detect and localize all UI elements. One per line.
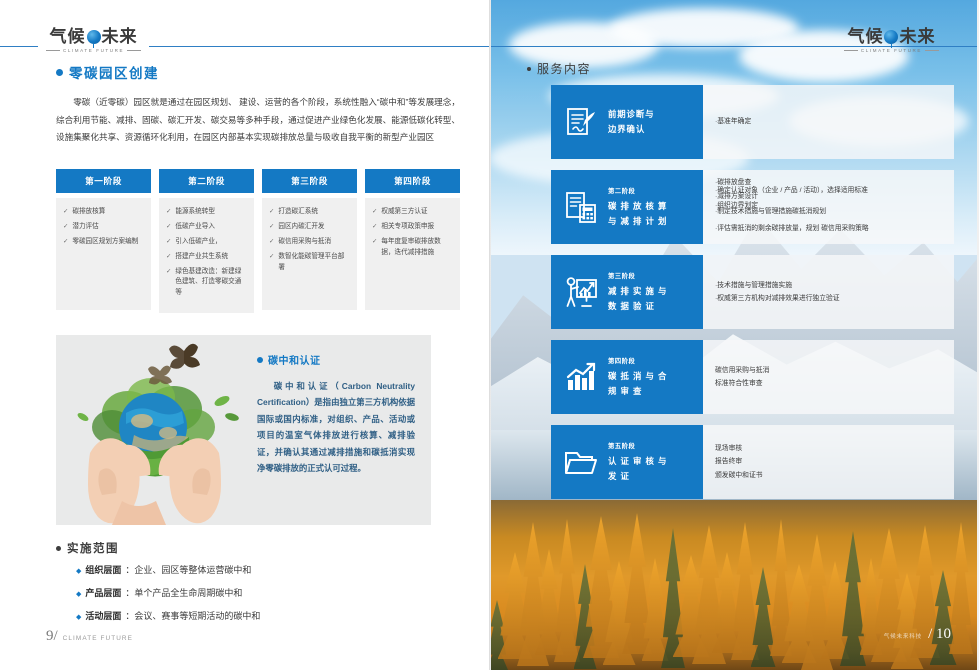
section-heading-label: 零碳园区创建 — [69, 62, 159, 82]
intro-paragraph: 零碳（近零碳）园区就是通过在园区规划、 建设、运营的各个阶段，系统性融入“碳中和… — [56, 94, 460, 147]
certification-image — [56, 335, 253, 525]
check-icon: ✓ — [269, 207, 274, 218]
stage-header: 第二阶段 — [159, 169, 254, 193]
service-card-stage-label: 第四阶段 — [608, 356, 667, 367]
bullet-dot-icon — [257, 357, 263, 363]
right-page: 气候 未来 CLIMATE FUTURE 服务内容 前期诊断与边界确认·基准年确… — [489, 0, 977, 670]
stage-header: 第四阶段 — [365, 169, 460, 193]
stage-item: ✓碳信用采购与抵消 — [269, 237, 350, 248]
stage-columns: 第一阶段✓碳排放核算✓潜力评估✓零碳园区规划方案编制第二阶段✓能源系统转型✓低碳… — [56, 169, 460, 313]
certification-body: 碳中和认证（Carbon Neutrality Certification）是指… — [257, 378, 415, 476]
service-card-title: 前期诊断与边界确认 — [608, 107, 654, 136]
globe-icon — [884, 30, 898, 44]
check-icon: ✓ — [166, 252, 171, 263]
stage-item: ✓搭建产业共生系统 — [166, 252, 247, 263]
globe-icon — [87, 30, 101, 44]
left-page-footer: 9/ CLIMATE FUTURE — [46, 628, 133, 645]
brand-subtitle: CLIMATE FUTURE — [844, 48, 939, 53]
service-card-title-line: 数 据 验 证 — [608, 299, 667, 314]
right-page-footer: 气候未来科技 / 10 — [884, 626, 951, 643]
presentation-person-icon — [563, 274, 599, 310]
stage-item-label: 搭建产业共生系统 — [175, 252, 228, 263]
stage-item: ✓潜力评估 — [63, 222, 144, 233]
service-card-item: 报告终审 — [715, 455, 942, 468]
service-card[interactable]: 第二阶段碳 排 放 核 算与 减 排 计 划·碳排放盘查·确定认证对象（企业 /… — [551, 170, 954, 244]
services-heading-label: 服务内容 — [537, 60, 591, 77]
service-card-item: ·基准年确定 — [715, 115, 942, 128]
certification-title-label: 碳中和认证 — [268, 352, 321, 367]
stage-item-label: 每年度复审碳排放数据，迭代减排措施 — [381, 237, 453, 259]
check-icon: ✓ — [166, 237, 171, 248]
stage-column: 第四阶段✓权威第三方认证✓相关专项政策申报✓每年度复审碳排放数据，迭代减排措施 — [365, 169, 460, 313]
section-heading-services: 服务内容 — [527, 60, 591, 77]
brand-subtitle: CLIMATE FUTURE — [46, 48, 141, 53]
diamond-bullet-icon: ◆ — [76, 568, 81, 575]
service-card-title-line: 减 排 实 施 与 — [608, 284, 667, 299]
stage-item-label: 打造碳汇系统 — [278, 207, 318, 218]
service-card-title-line: 认 证 审 核 与 — [608, 454, 667, 469]
page-gutter — [489, 0, 491, 670]
diamond-bullet-icon: ◆ — [76, 591, 81, 598]
service-card-title: 第二阶段碳 排 放 核 算与 减 排 计 划 — [608, 186, 667, 229]
scope-item: ◆组织层面：企业、园区等整体运营碳中和 — [76, 566, 456, 575]
service-card-body: 碳信用采购与抵消标准符合性审查 — [703, 340, 954, 414]
check-icon: ✓ — [269, 237, 274, 248]
stage-item: ✓能源系统转型 — [166, 207, 247, 218]
stage-item: ✓园区内碳汇开发 — [269, 222, 350, 233]
service-card[interactable]: 第四阶段碳 抵 消 与 合规 审 查碳信用采购与抵消标准符合性审查 — [551, 340, 954, 414]
scope-list: ◆组织层面：企业、园区等整体运营碳中和◆产品层面：单个产品全生命周期碳中和◆活动… — [76, 566, 456, 635]
stage-item-label: 引入低碳产业， — [175, 237, 221, 248]
folder-icon — [563, 444, 599, 480]
check-icon: ✓ — [269, 222, 274, 233]
check-icon: ✓ — [269, 252, 274, 274]
service-card-item: ·制定技术措施与管理措施碳抵消规划 — [715, 205, 826, 218]
service-card-stage-label: 第三阶段 — [608, 271, 667, 282]
service-card-title: 第三阶段减 排 实 施 与数 据 验 证 — [608, 271, 667, 314]
brand-logo: 气候 未来 CLIMATE FUTURE — [38, 28, 149, 53]
brand-name-part2: 未来 — [102, 28, 138, 45]
check-icon: ✓ — [372, 237, 377, 259]
footer-brand-label: 气候未来科技 — [884, 632, 922, 640]
stage-body: ✓能源系统转型✓低碳产业导入✓引入低碳产业，✓搭建产业共生系统✓绿色基建改造：新… — [159, 198, 254, 313]
service-card-item: 颁发碳中和证书 — [715, 469, 942, 482]
check-icon: ✓ — [372, 222, 377, 233]
left-page: 气候 未来 CLIMATE FUTURE 零碳园区创建 零碳（近零碳）园区就是通… — [0, 0, 489, 670]
certification-title: 碳中和认证 — [257, 352, 415, 367]
service-card-title: 第五阶段认 证 审 核 与发 证 — [608, 441, 667, 484]
stage-item: ✓权威第三方认证 — [372, 207, 453, 218]
service-card-title-line: 前期诊断与 — [608, 107, 654, 122]
check-icon: ✓ — [166, 207, 171, 218]
certification-text-block: 碳中和认证 碳中和认证（Carbon Neutrality Certificat… — [253, 335, 431, 525]
brand-logo-text: 气候 未来 — [50, 28, 138, 45]
service-card-title-line: 碳 抵 消 与 合 — [608, 369, 667, 384]
bullet-dot-icon — [56, 546, 61, 551]
service-card[interactable]: 第三阶段减 排 实 施 与数 据 验 证·技术措施与管理措施实施·权威第三方机构… — [551, 255, 954, 329]
service-card[interactable]: 前期诊断与边界确认·基准年确定 — [551, 85, 954, 159]
brand-name-part2: 未来 — [899, 28, 935, 45]
footer-brand-label: CLIMATE FUTURE — [63, 635, 133, 642]
stage-header: 第一阶段 — [56, 169, 151, 193]
brand-logo-text: 气候 未来 — [847, 28, 935, 45]
scope-item-text: ：会议、赛事等短期活动的碳中和 — [125, 612, 260, 621]
stage-column: 第三阶段✓打造碳汇系统✓园区内碳汇开发✓碳信用采购与抵消✓数智化能碳管理平台部署 — [262, 169, 357, 313]
bullet-dot-icon — [527, 67, 531, 71]
stage-item-label: 低碳产业导入 — [175, 222, 215, 233]
stage-item-label: 碳排放核算 — [72, 207, 105, 218]
document-pen-icon — [563, 104, 599, 140]
page-number: 9/ — [46, 628, 58, 645]
scope-item-label: 组织层面 — [85, 566, 121, 575]
brand-name-part1: 气候 — [847, 28, 883, 45]
diamond-bullet-icon: ◆ — [76, 614, 81, 621]
service-card-item: 现场审核 — [715, 442, 942, 455]
service-card-title: 第四阶段碳 抵 消 与 合规 审 查 — [608, 356, 667, 399]
service-card-header: 第四阶段碳 抵 消 与 合规 审 查 — [551, 340, 703, 414]
brand-logo: 气候 未来 CLIMATE FUTURE — [836, 28, 947, 53]
check-icon: ✓ — [63, 237, 68, 248]
stage-column: 第二阶段✓能源系统转型✓低碳产业导入✓引入低碳产业，✓搭建产业共生系统✓绿色基建… — [159, 169, 254, 313]
stage-header: 第三阶段 — [262, 169, 357, 193]
service-card-title-line: 边界确认 — [608, 122, 654, 137]
service-card-body: ·技术措施与管理措施实施·权威第三方机构对减排效果进行独立验证 — [703, 255, 954, 329]
left-page-header: 气候 未来 CLIMATE FUTURE — [0, 28, 489, 62]
stage-item-label: 零碳园区规划方案编制 — [72, 237, 138, 248]
service-card-title-line: 规 审 查 — [608, 384, 667, 399]
service-card-stage-label: 第二阶段 — [608, 186, 667, 197]
bullet-dot-icon — [56, 69, 63, 76]
service-card-header: 第二阶段碳 排 放 核 算与 减 排 计 划 — [551, 170, 703, 244]
stage-item: ✓每年度复审碳排放数据，迭代减排措施 — [372, 237, 453, 259]
stage-body: ✓打造碳汇系统✓园区内碳汇开发✓碳信用采购与抵消✓数智化能碳管理平台部署 — [262, 198, 357, 310]
stage-item: ✓引入低碳产业， — [166, 237, 247, 248]
service-card-header: 第五阶段认 证 审 核 与发 证 — [551, 425, 703, 499]
service-card[interactable]: 第五阶段认 证 审 核 与发 证现场审核报告终审颁发碳中和证书 — [551, 425, 954, 499]
service-card-title-line: 与 减 排 计 划 — [608, 214, 667, 229]
stage-item-label: 绿色基建改造：新建绿色建筑、打造零碳交通等 — [175, 267, 247, 300]
service-card-item: 标准符合性审查 — [715, 377, 942, 390]
scope-item-text: ：单个产品全生命周期碳中和 — [125, 589, 242, 598]
stage-column: 第一阶段✓碳排放核算✓潜力评估✓零碳园区规划方案编制 — [56, 169, 151, 313]
scope-item: ◆活动层面：会议、赛事等短期活动的碳中和 — [76, 612, 456, 621]
scope-item-label: 活动层面 — [85, 612, 121, 621]
stage-item: ✓碳排放核算 — [63, 207, 144, 218]
service-card-item: ·权威第三方机构对减排效果进行独立验证 — [715, 292, 942, 305]
stage-item: ✓零碳园区规划方案编制 — [63, 237, 144, 248]
check-icon: ✓ — [166, 222, 171, 233]
check-icon: ✓ — [63, 222, 68, 233]
service-card-title-line: 发 证 — [608, 469, 667, 484]
brochure-spread: 气候 未来 CLIMATE FUTURE 零碳园区创建 零碳（近零碳）园区就是通… — [0, 0, 979, 670]
service-card-item: ·技术措施与管理措施实施 — [715, 279, 942, 292]
scope-heading-label: 实施范围 — [67, 540, 119, 556]
page-number: / 10 — [928, 626, 951, 643]
document-calculator-icon — [563, 189, 599, 225]
stage-body: ✓碳排放核算✓潜力评估✓零碳园区规划方案编制 — [56, 198, 151, 310]
service-cards: 前期诊断与边界确认·基准年确定第二阶段碳 排 放 核 算与 减 排 计 划·碳排… — [551, 85, 954, 510]
hands-holding-earth-illustration — [56, 335, 253, 525]
stage-item-label: 潜力评估 — [72, 222, 98, 233]
service-card-body: ·碳排放盘查·确定认证对象（企业 / 产品 / 活动），选择适用标准·减排方案设… — [703, 170, 954, 244]
scope-item-label: 产品层面 — [85, 589, 121, 598]
stage-item-label: 相关专项政策申报 — [381, 222, 434, 233]
check-icon: ✓ — [372, 207, 377, 218]
service-card-body: ·基准年确定 — [703, 85, 954, 159]
certification-panel: 碳中和认证 碳中和认证（Carbon Neutrality Certificat… — [56, 335, 431, 525]
service-card-title-line: 碳 排 放 核 算 — [608, 199, 667, 214]
stage-item-label: 碳信用采购与抵消 — [278, 237, 331, 248]
stage-item: ✓数智化能碳管理平台部署 — [269, 252, 350, 274]
scope-item-text: ：企业、园区等整体运营碳中和 — [125, 566, 251, 575]
stage-item-label: 能源系统转型 — [175, 207, 215, 218]
service-card-body: 现场审核报告终审颁发碳中和证书 — [703, 425, 954, 499]
service-card-header: 第三阶段减 排 实 施 与数 据 验 证 — [551, 255, 703, 329]
stage-body: ✓权威第三方认证✓相关专项政策申报✓每年度复审碳排放数据，迭代减排措施 — [365, 198, 460, 310]
check-icon: ✓ — [63, 207, 68, 218]
section-heading-zero-carbon: 零碳园区创建 — [56, 62, 159, 82]
section-heading-scope: 实施范围 — [56, 540, 119, 556]
scope-item: ◆产品层面：单个产品全生命周期碳中和 — [76, 589, 456, 598]
service-card-stage-label: 第五阶段 — [608, 441, 667, 452]
stage-item-label: 园区内碳汇开发 — [278, 222, 324, 233]
stage-item-label: 数智化能碳管理平台部署 — [278, 252, 350, 274]
bar-chart-arrow-icon — [563, 359, 599, 395]
stage-item: ✓打造碳汇系统 — [269, 207, 350, 218]
stage-item: ✓低碳产业导入 — [166, 222, 247, 233]
right-page-header: 气候 未来 CLIMATE FUTURE — [489, 28, 977, 62]
service-card-item: ·评估需抵消的剩余碳排放量，规划 碳信用采购策略 — [715, 222, 869, 235]
stage-item-label: 权威第三方认证 — [381, 207, 427, 218]
service-card-item: 碳信用采购与抵消 — [715, 364, 942, 377]
check-icon: ✓ — [166, 267, 171, 300]
brand-name-part1: 气候 — [50, 28, 86, 45]
service-card-header: 前期诊断与边界确认 — [551, 85, 703, 159]
stage-item: ✓绿色基建改造：新建绿色建筑、打造零碳交通等 — [166, 267, 247, 300]
stage-item: ✓相关专项政策申报 — [372, 222, 453, 233]
